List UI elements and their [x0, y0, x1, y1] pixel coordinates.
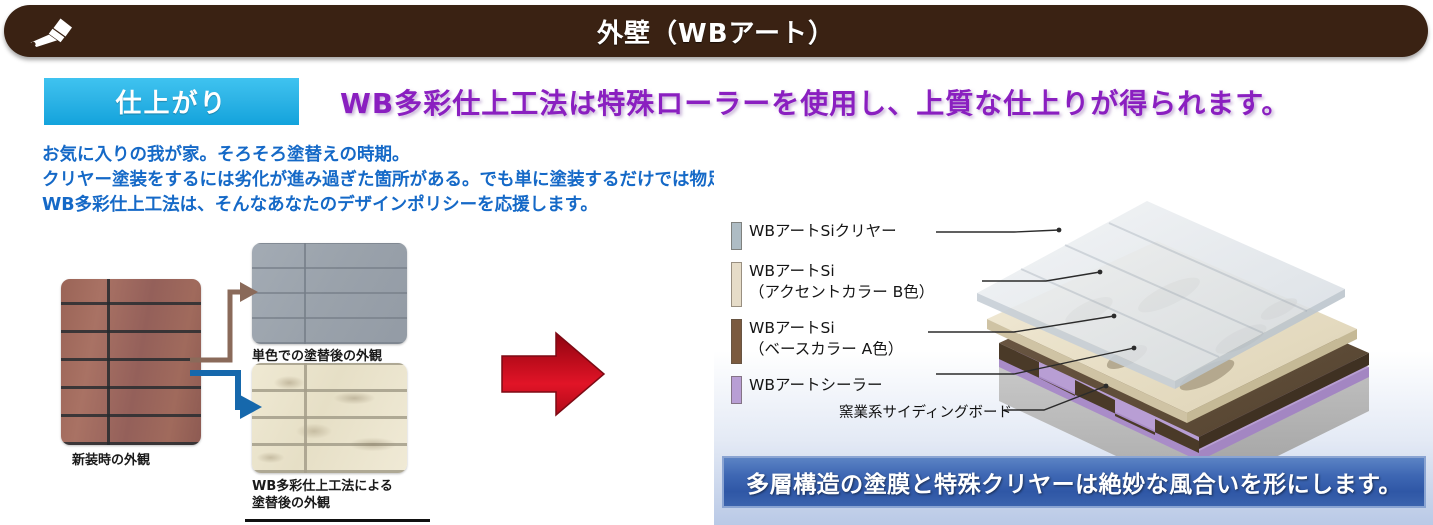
body-copy-line-2: クリヤー塗装をするには劣化が進み過ぎた箇所がある。でも単に塗装するだけでは物足り…: [42, 168, 742, 193]
page-title: 外壁（WBアート）: [4, 5, 1428, 57]
finish-badge: 仕上がり: [44, 78, 299, 125]
summary-banner-label: 多層構造の塗膜と特殊クリヤーは絶妙な風合いを形にします。: [746, 465, 1402, 499]
legend-item-clear: WBアートSiクリヤー: [731, 221, 1041, 250]
body-copy-line-3: WB多彩仕上工法は、そんなあなたのデザインポリシーを応援します。: [42, 193, 742, 218]
accent-color-swatch: [731, 262, 742, 307]
infographic-root: 外壁（WBアート） 仕上がり WB多彩仕上工法は特殊ローラーを使用し、上質な仕上…: [0, 0, 1433, 525]
base-color-swatch: [731, 319, 742, 364]
finish-badge-label: 仕上がり: [115, 83, 227, 120]
header-bar: 外壁（WBアート）: [4, 5, 1428, 57]
legend-label-clear: WBアートSiクリヤー: [749, 221, 897, 242]
legend-label-accent: WBアートSi （アクセントカラー B色）: [749, 261, 934, 303]
sealer-swatch: [731, 376, 742, 404]
before-caption: 新装時の外観: [72, 452, 150, 469]
headline-text: WB多彩仕上工法は特殊ローラーを使用し、上質な仕上りが得られます。: [340, 82, 1340, 122]
layer-legend: WBアートSiクリヤー WBアートSi （アクセントカラー B色） WBアートS…: [731, 221, 1041, 415]
transition-arrow-icon: [498, 330, 608, 418]
legend-label-sealer: WBアートシーラー: [749, 375, 883, 396]
before-wall-swatch: [61, 279, 201, 445]
caption-underline: [245, 519, 430, 522]
summary-banner: 多層構造の塗膜と特殊クリヤーは絶妙な風合いを形にします。: [722, 456, 1426, 508]
body-copy: お気に入りの我が家。そろそろ塗替えの時期。 クリヤー塗装をするには劣化が進み過ぎ…: [42, 143, 742, 218]
legend-item-accent: WBアートSi （アクセントカラー B色）: [731, 261, 1041, 307]
multicolor-repaint-caption: WB多彩仕上工法による 塗替後の外観: [252, 478, 393, 512]
before-mortar-line: [107, 279, 110, 445]
multicolor-caption-line-1: WB多彩仕上工法による: [252, 478, 393, 495]
legend-item-sealer: WBアートシーラー: [731, 375, 1041, 404]
legend-label-base: WBアートSi （ベースカラー A色）: [749, 318, 903, 360]
multicolor-caption-line-2: 塗替後の外観: [252, 495, 393, 512]
substrate-label: 窯業系サイディングボード: [839, 401, 1012, 422]
clear-coat-swatch: [731, 222, 742, 250]
legend-item-base: WBアートSi （ベースカラー A色）: [731, 318, 1041, 364]
cross-section-panel: WBアートSiクリヤー WBアートSi （アクセントカラー B色） WBアートS…: [714, 138, 1433, 525]
body-copy-line-1: お気に入りの我が家。そろそろ塗替えの時期。: [42, 143, 742, 168]
branch-connector-arrows: [190, 240, 320, 455]
